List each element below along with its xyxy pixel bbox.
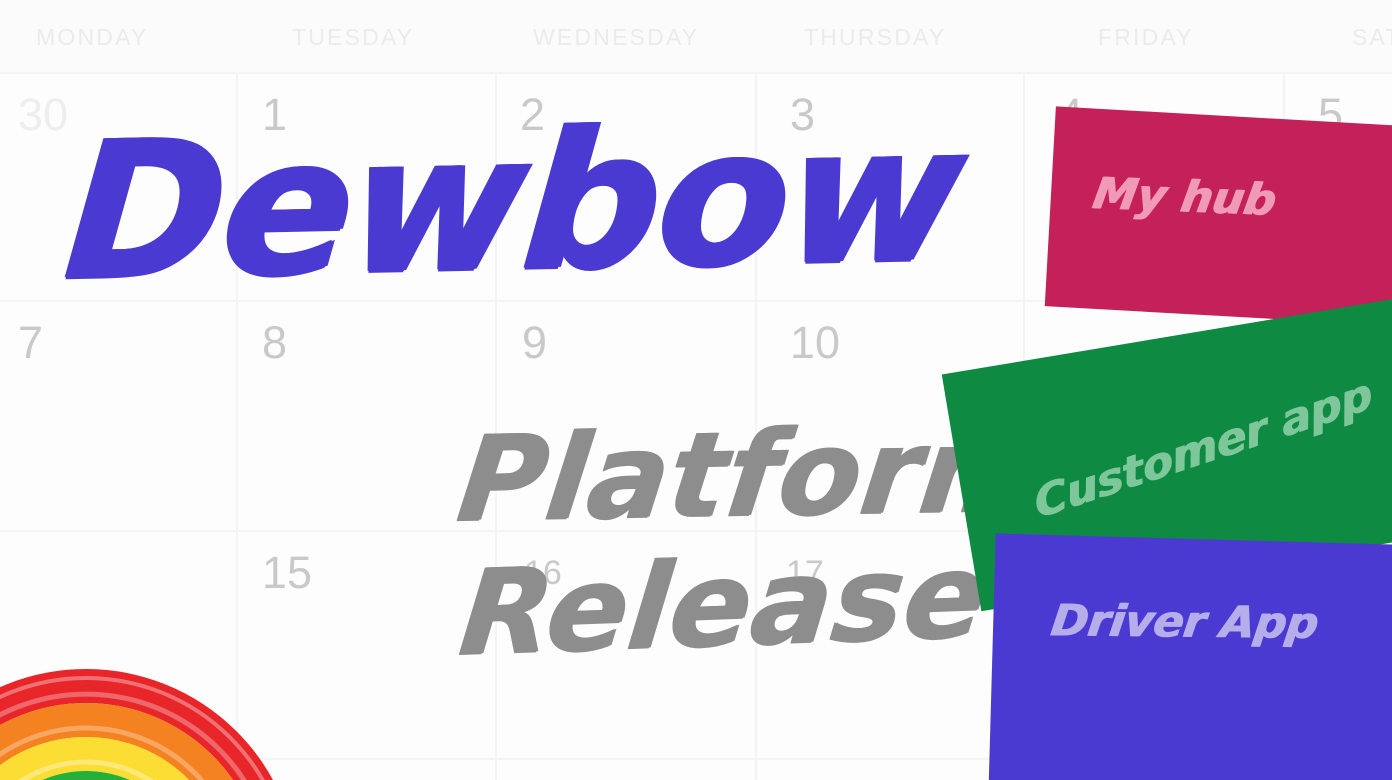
page-title: Dewbow xyxy=(59,99,969,308)
day-number-9[interactable]: 9 xyxy=(522,320,547,365)
poster-canvas: MONDAYTUESDAYWEDNESDAYTHURSDAYFRIDAYSAT … xyxy=(0,0,1392,780)
note-label-my-hub: My hub xyxy=(1089,172,1278,223)
grid-row-line xyxy=(0,72,1392,74)
note-card-my-hub[interactable]: My hub xyxy=(1045,106,1392,329)
day-number-7[interactable]: 7 xyxy=(18,320,43,365)
day-number-15[interactable]: 15 xyxy=(262,550,312,595)
weekday-header-tuesday: TUESDAY xyxy=(292,24,414,51)
note-label-customer-app: Customer app xyxy=(1031,373,1375,527)
day-number-10[interactable]: 10 xyxy=(790,320,840,365)
weekday-header-monday: MONDAY xyxy=(36,24,148,51)
subtitle-line-2: Release xyxy=(455,536,992,672)
weekday-header-wednesday: WEDNESDAY xyxy=(533,24,699,51)
day-number-30[interactable]: 30 xyxy=(18,92,68,137)
note-card-driver-app[interactable]: Driver App xyxy=(988,533,1392,780)
weekday-header-thursday: THURSDAY xyxy=(804,24,946,51)
weekday-header-friday: FRIDAY xyxy=(1098,24,1194,51)
weekday-header-sat: SAT xyxy=(1352,24,1392,51)
day-number-8[interactable]: 8 xyxy=(262,320,287,365)
note-label-driver-app: Driver App xyxy=(1048,599,1320,646)
